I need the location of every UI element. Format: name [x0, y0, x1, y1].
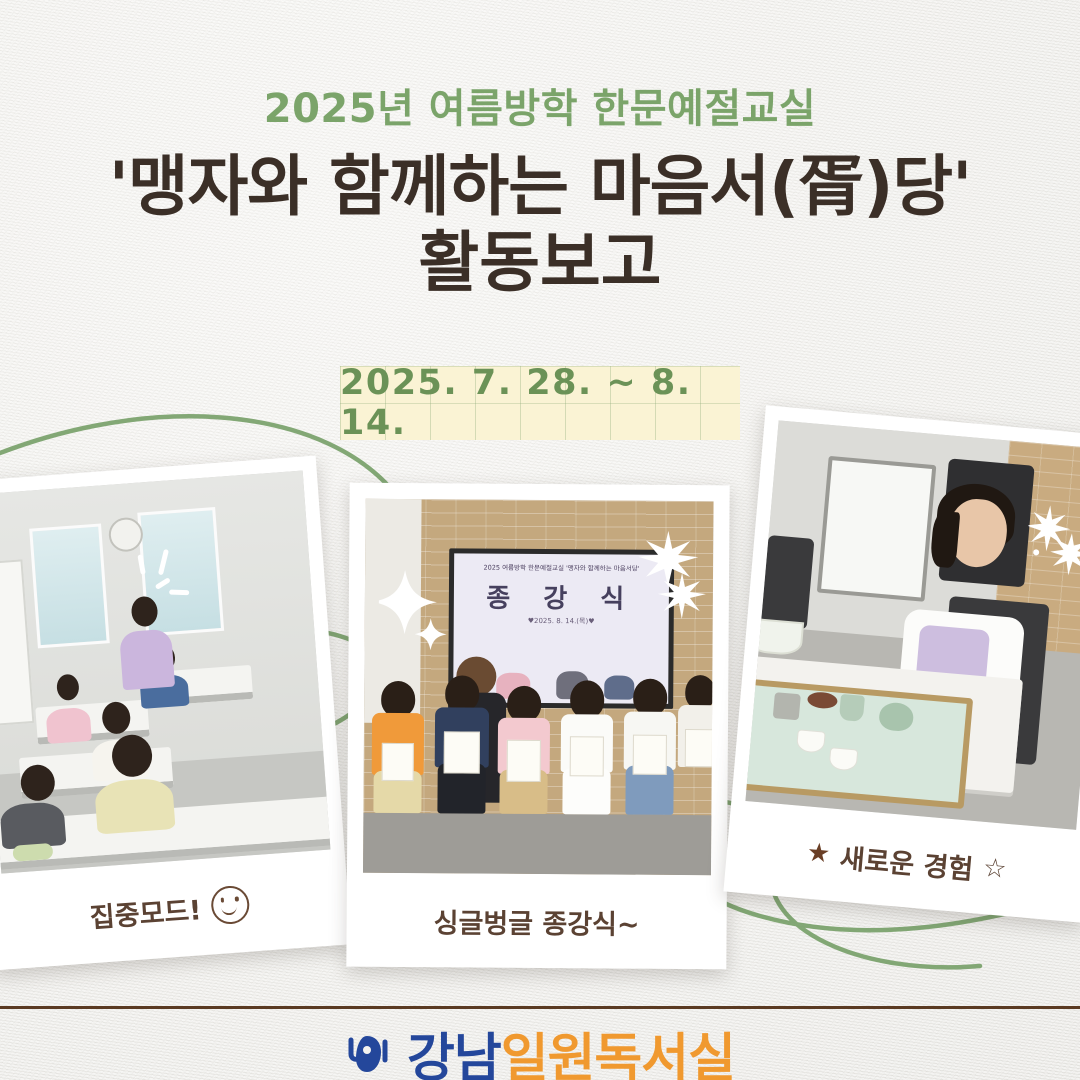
star-filled-icon: ★: [806, 840, 831, 868]
poster-header: 2025년 여름방학 한문예절교실 '맹자와 함께하는 마음서(胥)당' 활동보…: [0, 0, 1080, 300]
photo-ceremony: 2025 여름방학 한문예절교실 '맹자와 함께하는 마음서당' 종 강 식 ♥…: [363, 499, 714, 875]
ceremony-screen-line-1: 2025 여름방학 한문예절교실 '맹자와 함께하는 마음서당': [454, 561, 670, 573]
scene-tea: [745, 420, 1080, 829]
photo-tea: [745, 420, 1080, 829]
scene-ceremony: 2025 여름방학 한문예절교실 '맹자와 함께하는 마음서당' 종 강 식 ♥…: [363, 499, 714, 875]
date-range-text: 2025. 7. 28. ~ 8. 14.: [340, 363, 740, 443]
logo-wordmark: 강남일원독서실: [407, 1016, 735, 1080]
ceremony-screen-line-2: 종 강 식: [453, 577, 669, 616]
page-title-line-2: 활동보고: [0, 226, 1080, 300]
poster-canvas: 2025년 여름방학 한문예절교실 '맹자와 함께하는 마음서(胥)당' 활동보…: [0, 0, 1080, 1080]
photo-classroom: [0, 471, 330, 874]
gangnam-library-mark-icon: [345, 1030, 393, 1078]
photo-card-tea[interactable]: ★ 새로운 경험 ☆: [723, 405, 1080, 923]
caption-text: 새로운 경험: [838, 836, 975, 886]
date-banner: 2025. 7. 28. ~ 8. 14.: [340, 366, 740, 440]
program-eyebrow: 2025년 여름방학 한문예절교실: [0, 76, 1080, 134]
scene-classroom: [0, 471, 330, 874]
ceremony-screen-line-3: ♥2025. 8. 14.(목)♥: [453, 615, 669, 627]
logo-text-primary: 강남: [407, 1029, 501, 1080]
footer-logo: 강남일원독서실: [0, 1016, 1080, 1080]
photo-card-classroom[interactable]: 집중모드!: [0, 456, 351, 971]
footer-divider: [0, 1006, 1080, 1009]
caption-text: 싱글벙글 종강식~: [434, 901, 640, 941]
photo-caption-ceremony: 싱글벙글 종강식~: [362, 873, 711, 969]
smiley-icon: [210, 885, 251, 926]
page-title-line-1: '맹자와 함께하는 마음서(胥)당': [0, 150, 1080, 224]
logo-text-secondary: 일원독서실: [501, 1029, 735, 1080]
caption-text: 집중모드!: [88, 888, 202, 935]
star-hollow-icon: ☆: [982, 855, 1007, 883]
photo-card-ceremony[interactable]: 2025 여름방학 한문예절교실 '맹자와 함께하는 마음서당' 종 강 식 ♥…: [346, 483, 729, 970]
